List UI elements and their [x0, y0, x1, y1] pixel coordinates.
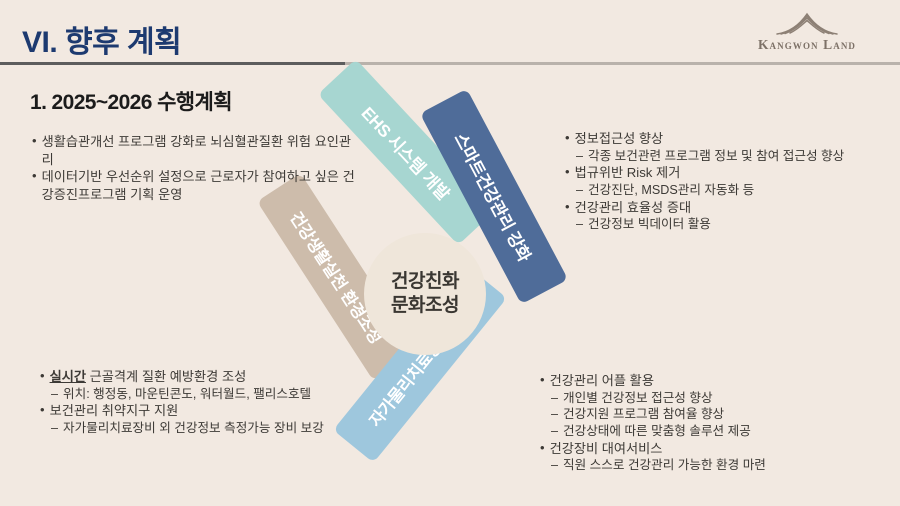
text-block-top-right: •정보접근성 향상–각종 보건관련 프로그램 정보 및 참여 접근성 향상•법규… [565, 130, 895, 233]
header-divider [0, 62, 900, 65]
list-item-label: 건강관리 어플 활용 [550, 372, 895, 390]
bullet-dot-icon: • [565, 164, 570, 180]
list-item: –건강진단, MSDS관리 자동화 등 [565, 182, 895, 199]
list-item-label: 실시간 근골격계 질환 예방환경 조성 [50, 368, 385, 386]
list-item: –자가물리치료장비 외 건강정보 측정가능 장비 보강 [40, 420, 385, 437]
list-item: •법규위반 Risk 제거 [565, 164, 895, 182]
section-title: 1. 2025~2026 수행계획 [30, 86, 232, 116]
list-item-label: 건강진단, MSDS관리 자동화 등 [588, 182, 895, 199]
text-block-top-left: •생활습관개선 프로그램 강화로 뇌심혈관질환 위험 요인관리•데이터기반 우선… [32, 133, 362, 203]
list-item-label: 데이터기반 우선순위 설정으로 근로자가 참여하고 싶은 건강증진프로그램 기획… [42, 168, 362, 203]
brand-logo: Kangwon Land [736, 10, 878, 58]
bullet-dot-icon: • [40, 368, 45, 384]
bullet-dash-icon: – [551, 406, 558, 423]
list-item: •건강관리 효율성 증대 [565, 199, 895, 217]
list-item: •건강관리 어플 활용 [540, 372, 895, 390]
list-item: –건강상태에 따른 맞춤형 솔루션 제공 [540, 423, 895, 440]
bullet-dash-icon: – [576, 216, 583, 233]
emphasis-text: 실시간 [50, 369, 86, 384]
list-item: –위치: 행정동, 마운틴콘도, 워터월드, 팰리스호텔 [40, 386, 385, 403]
list-item-label: 생활습관개선 프로그램 강화로 뇌심혈관질환 위험 요인관리 [42, 133, 362, 168]
list-item-label: 자가물리치료장비 외 건강정보 측정가능 장비 보강 [63, 420, 385, 437]
list-item: –각종 보건관련 프로그램 정보 및 참여 접근성 향상 [565, 148, 895, 165]
bullet-dash-icon: – [551, 390, 558, 407]
slide-canvas: VI. 향후 계획 Kangwon Land 1. 2025~2026 수행계획… [0, 0, 900, 506]
bullet-dash-icon: – [576, 148, 583, 165]
list-item-label: 건강정보 빅데이터 활용 [588, 216, 895, 233]
brand-logo-text: Kangwon Land [736, 37, 878, 53]
diagram-hub: 건강친화 문화조성 [364, 233, 486, 355]
list-item-label: 위치: 행정동, 마운틴콘도, 워터월드, 팰리스호텔 [63, 386, 385, 403]
list-item: –건강정보 빅데이터 활용 [565, 216, 895, 233]
list-item-label: 건강장비 대여서비스 [550, 440, 895, 458]
diagram-hub-line2: 문화조성 [391, 294, 459, 318]
list-item: •생활습관개선 프로그램 강화로 뇌심혈관질환 위험 요인관리 [32, 133, 362, 168]
bullet-dash-icon: – [51, 420, 58, 437]
bullet-dot-icon: • [32, 168, 37, 184]
text-block-bottom-left: •실시간 근골격계 질환 예방환경 조성–위치: 행정동, 마운틴콘도, 워터월… [40, 368, 385, 437]
text-block-bottom-right: •건강관리 어플 활용–개인별 건강정보 접근성 향상–건강지원 프로그램 참여… [540, 372, 895, 474]
bullet-dot-icon: • [565, 199, 570, 215]
list-item-label: 법규위반 Risk 제거 [575, 164, 895, 182]
mountain-emblem-icon [767, 10, 847, 36]
bullet-dash-icon: – [576, 182, 583, 199]
list-item-label: 보건관리 취약지구 지원 [50, 402, 385, 420]
list-item: –직원 스스로 건강관리 가능한 환경 마련 [540, 457, 895, 474]
list-item: •보건관리 취약지구 지원 [40, 402, 385, 420]
bullet-dot-icon: • [40, 402, 45, 418]
list-item-label: 건강상태에 따른 맞춤형 솔루션 제공 [563, 423, 895, 440]
list-item-label: 각종 보건관련 프로그램 정보 및 참여 접근성 향상 [588, 148, 895, 165]
list-item: –건강지원 프로그램 참여율 향상 [540, 406, 895, 423]
bullet-dot-icon: • [540, 372, 545, 388]
bullet-dash-icon: – [51, 386, 58, 403]
bullet-dash-icon: – [551, 457, 558, 474]
list-item: •정보접근성 향상 [565, 130, 895, 148]
list-item: •실시간 근골격계 질환 예방환경 조성 [40, 368, 385, 386]
bullet-dot-icon: • [540, 440, 545, 456]
page-title: VI. 향후 계획 [22, 17, 181, 61]
diagram-hub-line1: 건강친화 [391, 270, 459, 294]
list-item-label: 건강지원 프로그램 참여율 향상 [563, 406, 895, 423]
list-item-label: 정보접근성 향상 [575, 130, 895, 148]
list-item-label: 개인별 건강정보 접근성 향상 [563, 390, 895, 407]
list-item-label: 직원 스스로 건강관리 가능한 환경 마련 [563, 457, 895, 474]
list-item: •건강장비 대여서비스 [540, 440, 895, 458]
bullet-dash-icon: – [551, 423, 558, 440]
list-item: –개인별 건강정보 접근성 향상 [540, 390, 895, 407]
bullet-dot-icon: • [565, 130, 570, 146]
list-item: •데이터기반 우선순위 설정으로 근로자가 참여하고 싶은 건강증진프로그램 기… [32, 168, 362, 203]
list-item-label: 건강관리 효율성 증대 [575, 199, 895, 217]
bullet-dot-icon: • [32, 133, 37, 149]
